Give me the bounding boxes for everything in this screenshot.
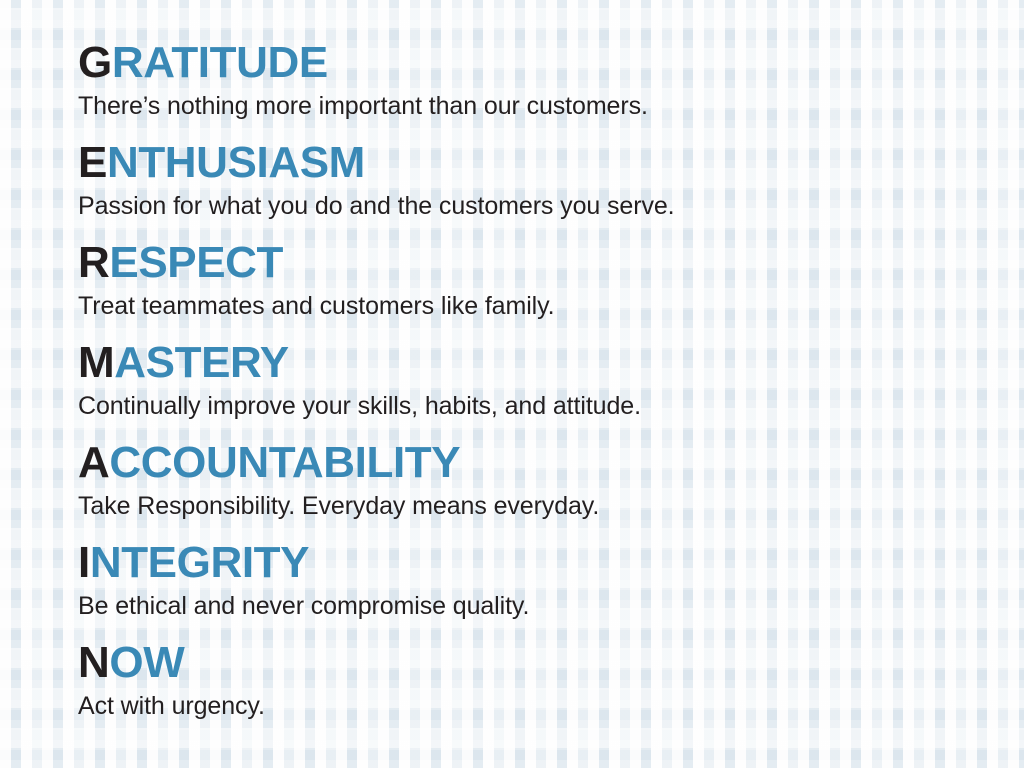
value-heading-rest: NTHUSIASM xyxy=(107,138,365,187)
value-block-now: NOW Act with urgency. xyxy=(78,640,265,720)
value-heading-rest: OW xyxy=(109,638,184,687)
value-heading: INTEGRITY xyxy=(78,540,529,586)
value-heading: ACCOUNTABILITY xyxy=(78,440,599,486)
value-heading: GRATITUDE xyxy=(78,40,648,86)
value-heading-rest: NTEGRITY xyxy=(90,538,309,587)
values-poster: GRATITUDE There’s nothing more important… xyxy=(0,0,1024,768)
value-heading: RESPECT xyxy=(78,240,555,286)
value-heading-rest: CCOUNTABILITY xyxy=(109,438,460,487)
value-block-enthusiasm: ENTHUSIASM Passion for what you do and t… xyxy=(78,140,675,220)
value-initial-letter: N xyxy=(78,638,109,687)
value-block-gratitude: GRATITUDE There’s nothing more important… xyxy=(78,40,648,120)
value-block-accountability: ACCOUNTABILITY Take Responsibility. Ever… xyxy=(78,440,599,520)
value-heading-rest: ESPECT xyxy=(109,238,283,287)
value-heading: NOW xyxy=(78,640,265,686)
value-description: Treat teammates and customers like famil… xyxy=(78,292,555,320)
value-block-respect: RESPECT Treat teammates and customers li… xyxy=(78,240,555,320)
value-initial-letter: M xyxy=(78,338,114,387)
value-heading-rest: RATITUDE xyxy=(112,38,328,87)
value-description: Passion for what you do and the customer… xyxy=(78,192,675,220)
value-block-integrity: INTEGRITY Be ethical and never compromis… xyxy=(78,540,529,620)
value-block-mastery: MASTERY Continually improve your skills,… xyxy=(78,340,641,420)
value-description: There’s nothing more important than our … xyxy=(78,92,648,120)
value-description: Take Responsibility. Everyday means ever… xyxy=(78,492,599,520)
value-initial-letter: E xyxy=(78,138,107,187)
value-description: Be ethical and never compromise quality. xyxy=(78,592,529,620)
value-initial-letter: R xyxy=(78,238,109,287)
value-initial-letter: A xyxy=(78,438,109,487)
value-heading-rest: ASTERY xyxy=(114,338,288,387)
value-heading: MASTERY xyxy=(78,340,641,386)
value-heading: ENTHUSIASM xyxy=(78,140,675,186)
value-initial-letter: G xyxy=(78,38,112,87)
value-initial-letter: I xyxy=(78,538,90,587)
value-description: Act with urgency. xyxy=(78,692,265,720)
value-description: Continually improve your skills, habits,… xyxy=(78,392,641,420)
